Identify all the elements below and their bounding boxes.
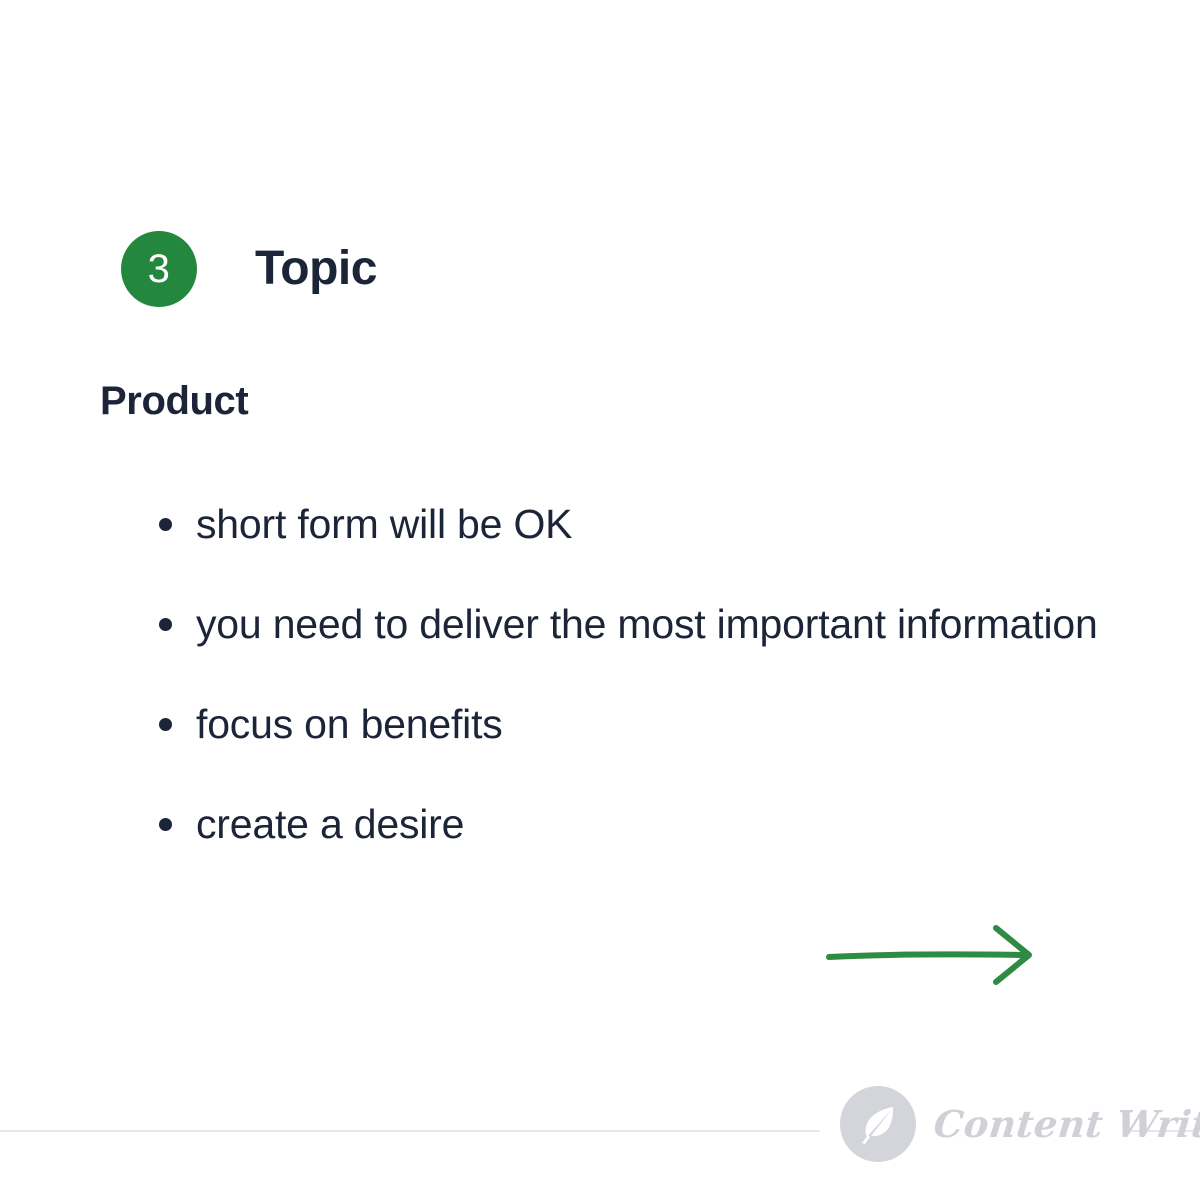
- list-item-label: short form will be OK: [196, 501, 572, 547]
- slide-canvas: 3 Topic Product short form will be OK yo…: [0, 0, 1200, 1200]
- list-item: you need to deliver the most important i…: [155, 574, 1115, 674]
- brand-avatar: [840, 1086, 916, 1162]
- footer-divider-left: [0, 1130, 820, 1132]
- bullet-dot-icon: [159, 618, 172, 631]
- page-title: Topic: [255, 245, 377, 293]
- feather-quill-icon: [854, 1100, 902, 1148]
- brand-name-label: Content Writer: [932, 1106, 1200, 1143]
- list-item-label: you need to deliver the most important i…: [196, 601, 1098, 647]
- step-number-label: 3: [148, 249, 171, 289]
- list-item: create a desire: [155, 774, 1115, 874]
- arrow-right-icon: [826, 920, 1041, 990]
- bullet-list: short form will be OK you need to delive…: [155, 474, 1115, 874]
- slide-footer: Content Writer: [0, 1086, 1200, 1186]
- bullet-dot-icon: [159, 818, 172, 831]
- bullet-dot-icon: [159, 518, 172, 531]
- section-heading: Product: [100, 381, 248, 421]
- step-number-badge: 3: [121, 231, 197, 307]
- brand-lockup: Content Writer: [840, 1086, 1200, 1162]
- swipe-arrow-annotation: [826, 920, 1041, 990]
- list-item-label: focus on benefits: [196, 701, 503, 747]
- list-item: focus on benefits: [155, 674, 1115, 774]
- bullet-dot-icon: [159, 718, 172, 731]
- list-item-label: create a desire: [196, 801, 464, 847]
- slide-header: 3 Topic: [121, 231, 377, 307]
- list-item: short form will be OK: [155, 474, 1115, 574]
